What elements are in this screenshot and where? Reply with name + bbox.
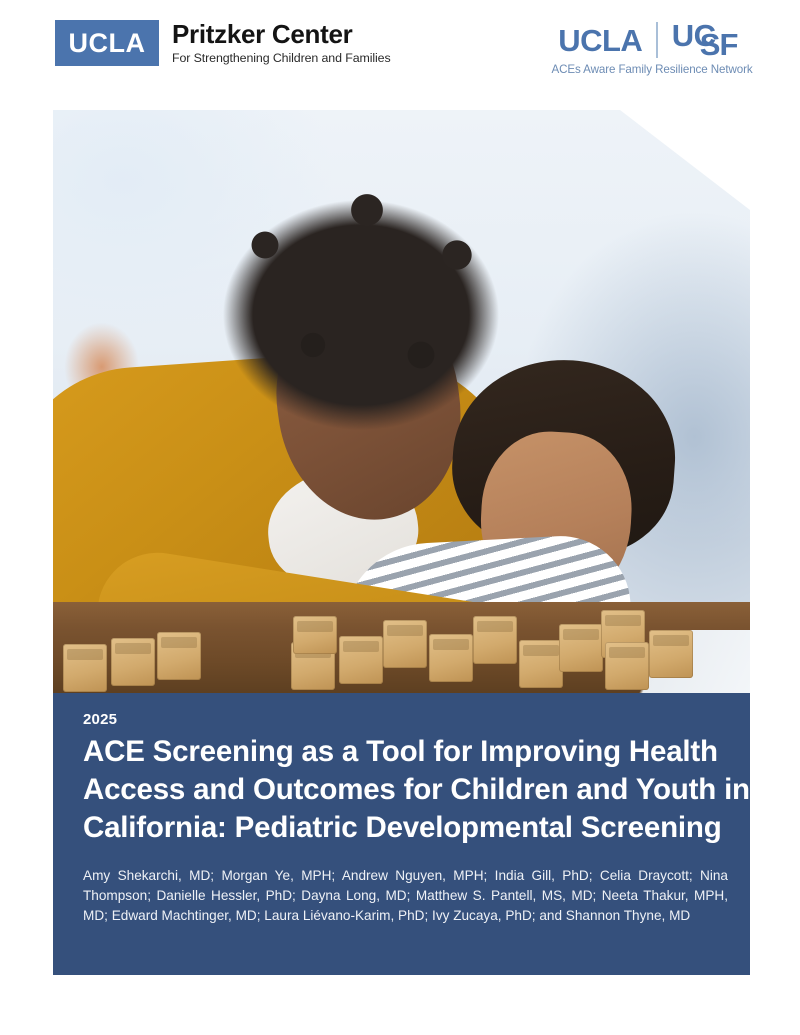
wooden-block	[519, 640, 563, 688]
publication-year: 2025	[83, 711, 728, 728]
wooden-block	[649, 630, 693, 678]
logo-divider-rule	[656, 22, 658, 58]
wooden-block	[63, 644, 107, 692]
author-list: Amy Shekarchi, MD; Morgan Ye, MPH; Andre…	[83, 866, 728, 926]
wooden-block	[157, 632, 201, 680]
adult-hair	[211, 190, 511, 440]
wooden-alphabet-blocks	[53, 612, 750, 694]
ucla-wordmark-badge: UCLA	[55, 20, 159, 66]
pritzker-center-subtitle: For Strengthening Children and Families	[172, 51, 391, 65]
ucsf-sf-letters: SF	[700, 29, 738, 60]
pritzker-center-title: Pritzker Center	[172, 21, 391, 48]
ucla-pritzker-center-logo: UCLA Pritzker Center For Strengthening C…	[55, 20, 391, 66]
title-line: Access and Outcomes for Children and You…	[83, 771, 728, 809]
cover-photograph	[53, 110, 750, 694]
wooden-block	[473, 616, 517, 664]
title-line: California: Pediatric Developmental Scre…	[83, 809, 728, 847]
aces-ucla-wordmark: UCLA	[558, 25, 642, 56]
aces-aware-family-resilience-network-logo: UCLA UC SF ACEs Aware Family Resilience …	[537, 20, 767, 76]
document-title: ACE Screening as a Tool for Improving He…	[83, 733, 728, 846]
wooden-block	[429, 634, 473, 682]
wooden-block	[111, 638, 155, 686]
title-line: ACE Screening as a Tool for Improving He…	[83, 733, 728, 771]
header-logo-bar: UCLA Pritzker Center For Strengthening C…	[0, 0, 800, 100]
wooden-block	[559, 624, 603, 672]
wooden-block	[605, 642, 649, 690]
wooden-block	[293, 616, 337, 654]
wooden-block	[339, 636, 383, 684]
aces-ucsf-wordmark: UC SF	[672, 20, 746, 60]
aces-network-tagline: ACEs Aware Family Resilience Network	[537, 63, 767, 76]
pritzker-logo-text: Pritzker Center For Strengthening Childr…	[172, 20, 391, 65]
title-banner: 2025 ACE Screening as a Tool for Improvi…	[53, 693, 750, 975]
aces-logo-wordmarks: UCLA UC SF	[537, 20, 767, 60]
wooden-block	[383, 620, 427, 668]
